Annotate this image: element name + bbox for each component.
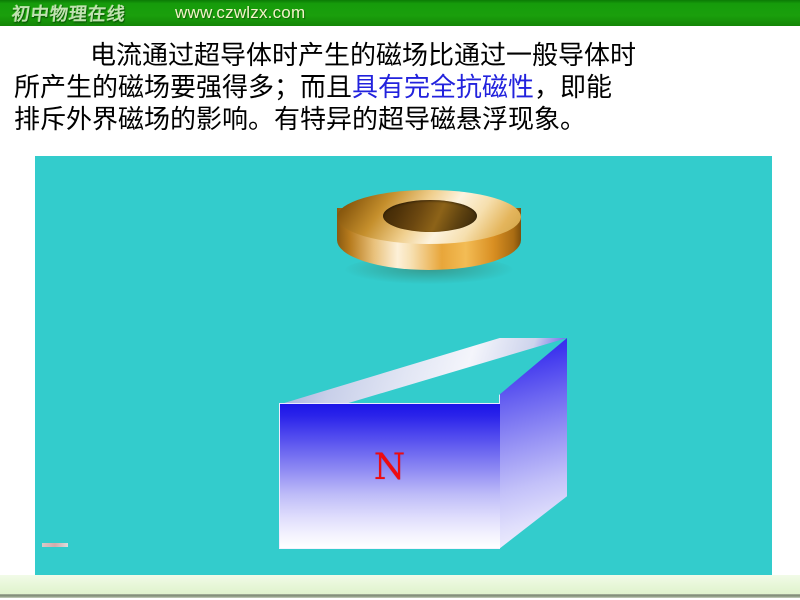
slide-canvas: 初中物理在线 www.czwlzx.com 电流通过超导体时产生的磁场比通过一般… [0, 0, 800, 600]
ring-top-face [337, 190, 521, 244]
site-logo: 初中物理在线 [11, 1, 128, 25]
body-text-line-1: 电流通过超导体时产生的磁场比通过一般导体时 [12, 40, 788, 72]
slide-body-text: 电流通过超导体时产生的磁场比通过一般导体时 所产生的磁场要强得多；而且具有完全抗… [12, 40, 788, 136]
site-url-label: www.czwlzx.com [175, 2, 305, 24]
magnet-pole-label: N [279, 403, 500, 549]
site-header-bar: 初中物理在线 www.czwlzx.com [0, 0, 800, 26]
magnet-side-face [499, 338, 567, 549]
bar-magnet-block: N [261, 338, 567, 550]
body-text-highlight: 具有完全抗磁性 [352, 73, 534, 103]
body-text-line-2: 所产生的磁场要强得多；而且具有完全抗磁性，即能 [12, 72, 788, 104]
illustration-panel: N [35, 156, 772, 575]
body-text-line-2-prefix: 所产生的磁场要强得多；而且 [14, 73, 352, 103]
footer-band [0, 575, 800, 596]
footer-pink-mark [42, 543, 68, 547]
body-text-line-3: 排斥外界磁场的影响。有特异的超导磁悬浮现象。 [12, 104, 788, 136]
superconductor-ring [337, 190, 521, 288]
body-text-line-2-suffix: ，即能 [534, 73, 612, 103]
footer-rule [0, 594, 800, 598]
ring-inner-hole [383, 200, 477, 232]
